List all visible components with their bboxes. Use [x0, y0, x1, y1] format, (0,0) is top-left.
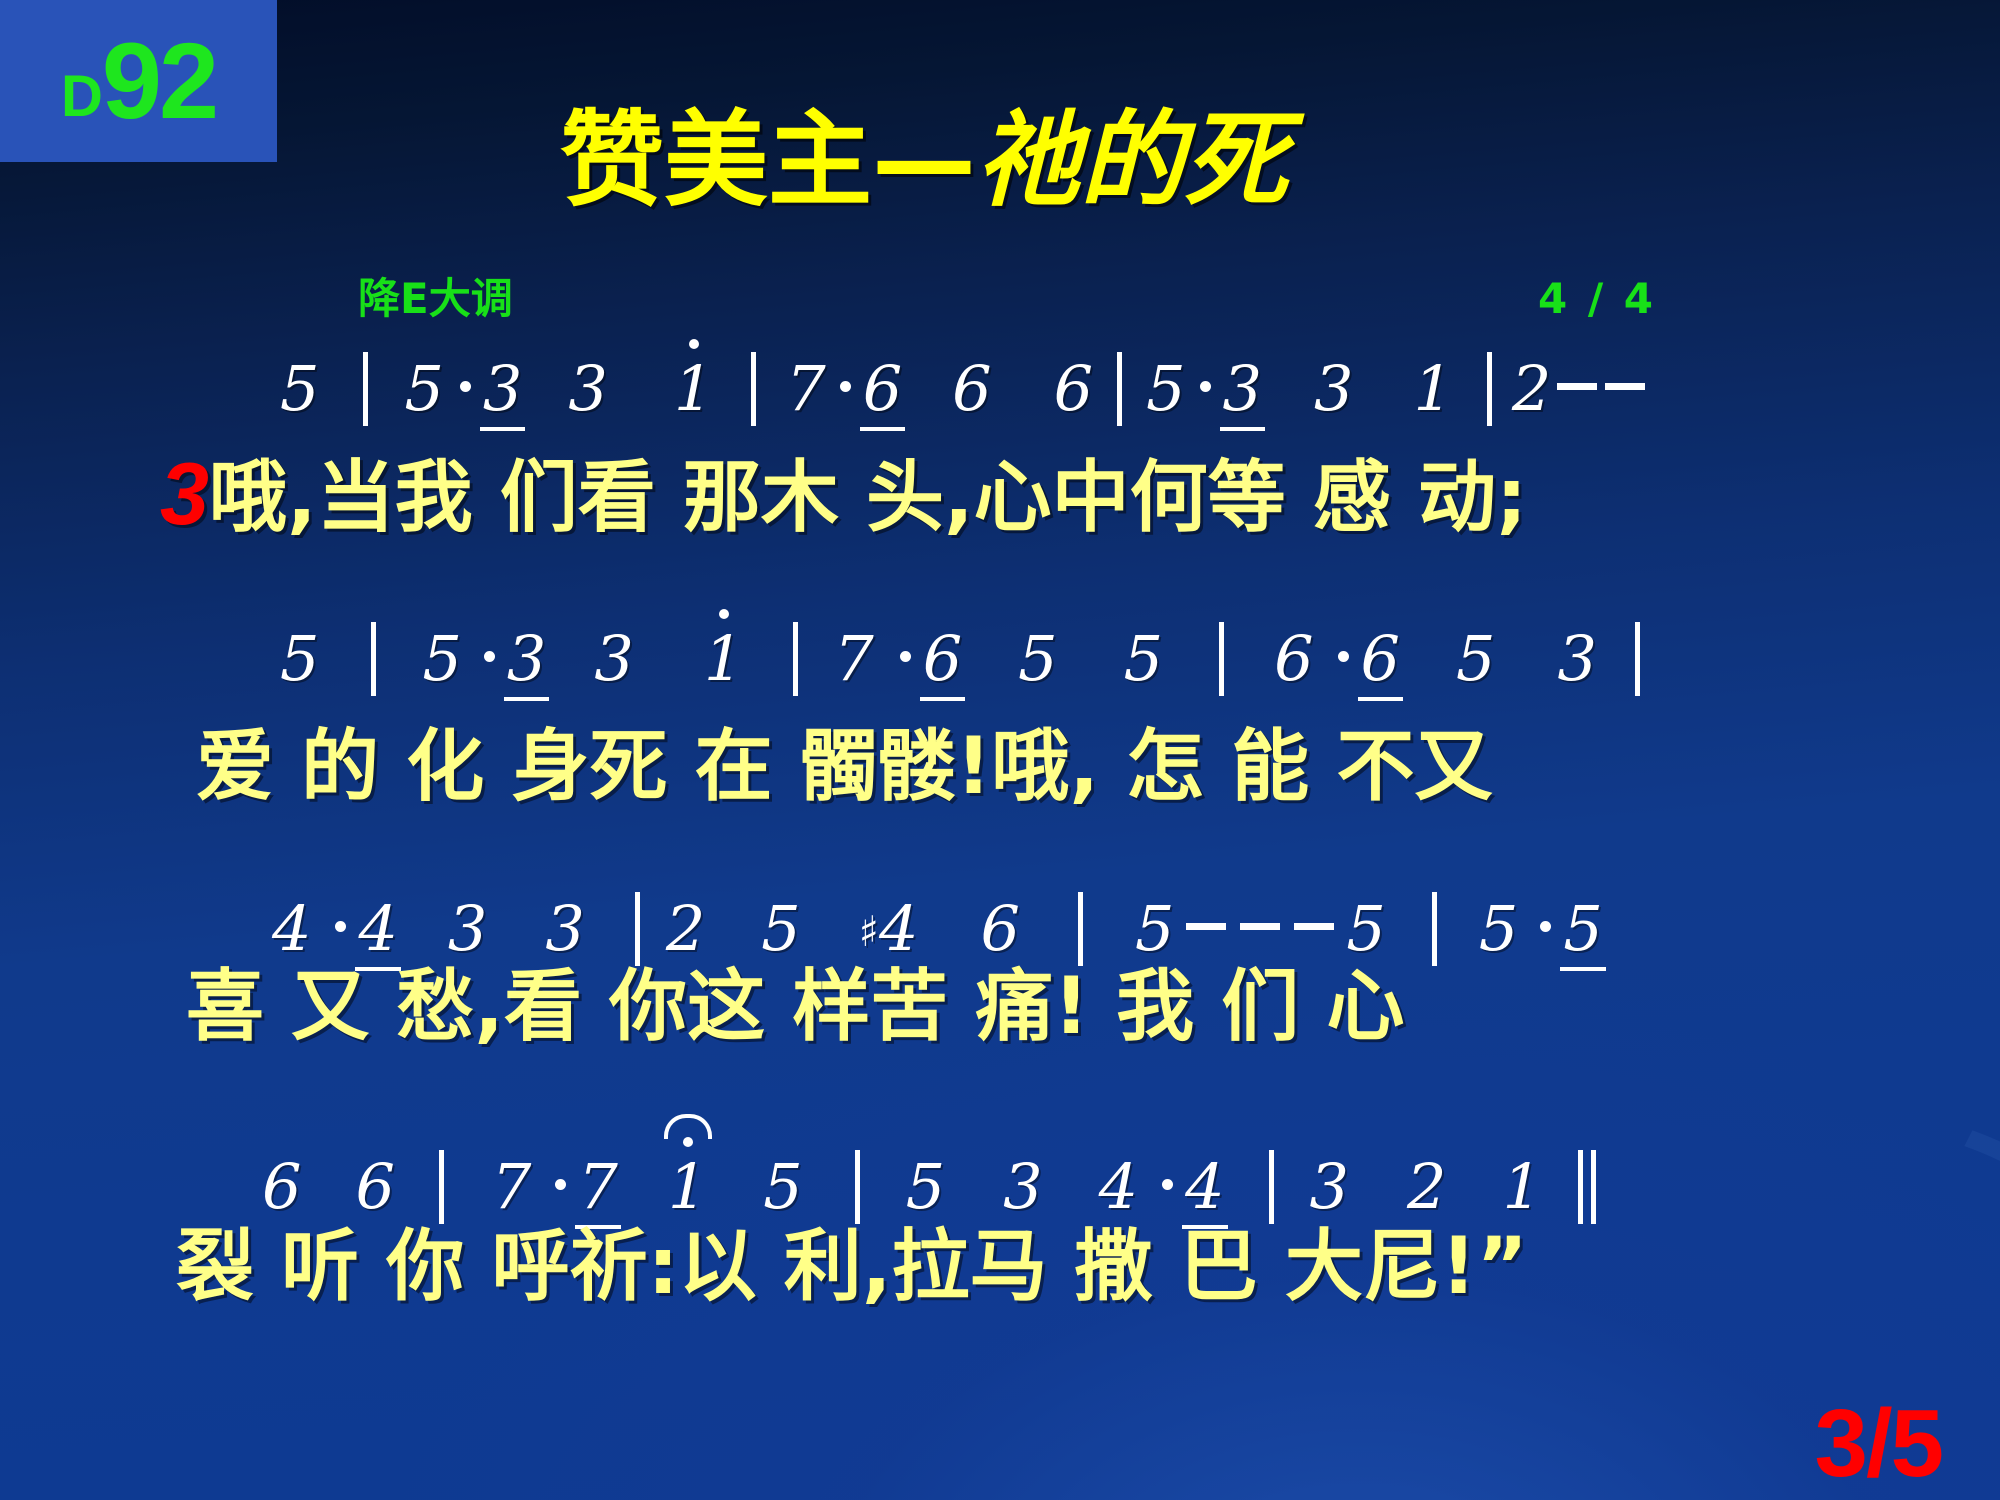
note: 2	[666, 898, 705, 960]
augmentation-dot-icon	[484, 651, 495, 662]
title-cursive: 祂的死	[976, 98, 1288, 221]
sustain-dash-icon	[1294, 923, 1334, 930]
note: 5	[1146, 358, 1185, 420]
note: 5	[404, 358, 443, 420]
note: 4	[358, 898, 397, 960]
note: 5	[1018, 628, 1057, 690]
note: 5	[1346, 898, 1385, 960]
sharp-accidental-icon: ♯	[859, 907, 879, 956]
barline-icon	[855, 1150, 860, 1224]
music-row-3: 443325♯465555	[272, 892, 1603, 966]
barline-icon	[635, 892, 640, 966]
time-signature: 4 / 4	[1538, 278, 1656, 320]
sustain-dash-icon	[1605, 383, 1645, 390]
note: 1	[704, 628, 743, 690]
barline-icon	[1078, 892, 1083, 966]
note: 5	[761, 898, 800, 960]
note: 4	[1099, 1156, 1138, 1218]
barline-icon	[371, 622, 376, 696]
decorative-swirl	[773, 754, 2000, 1500]
hymn-number: 92	[102, 38, 216, 124]
note: 3	[568, 358, 607, 420]
note: 5	[280, 358, 319, 420]
lyric-text: 裂 听 你 呼祈:以 利,拉马 撒 巴 大尼!”	[176, 1222, 1528, 1312]
sustain-dash-icon	[1240, 923, 1280, 930]
lyric-text: 喜 又 愁,看 你这 样苦 痛! 我 们 心	[186, 962, 1404, 1052]
final-barline-icon	[1578, 1150, 1596, 1224]
lyric-text: 爱 的 化 身死 在 髑髅!哦, 怎 能 不又	[196, 722, 1492, 812]
note: 6	[1274, 628, 1313, 690]
note: 3	[1003, 1156, 1042, 1218]
augmentation-dot-icon	[1200, 381, 1211, 392]
barline-icon	[751, 352, 756, 426]
note: 2	[1407, 1156, 1446, 1218]
note: 7	[578, 1156, 617, 1218]
note: 4	[272, 898, 311, 960]
barline-icon	[1487, 352, 1492, 426]
barline-icon	[439, 1150, 444, 1224]
note: 5	[763, 1156, 802, 1218]
note: 6	[863, 358, 902, 420]
sustain-dash-icon	[1186, 923, 1226, 930]
lyric-row-4: 裂 听 你 呼祈:以 利,拉马 撒 巴 大尼!”	[176, 1228, 1528, 1306]
note: 6	[923, 628, 962, 690]
augmentation-dot-icon	[335, 921, 346, 932]
note: 7	[786, 358, 825, 420]
barline-icon	[1635, 622, 1640, 696]
barline-icon	[793, 622, 798, 696]
note: 6	[952, 358, 991, 420]
note: 5	[1479, 898, 1518, 960]
hymn-number-badge: D92	[0, 0, 277, 162]
note: 3	[1310, 1156, 1349, 1218]
lyric-row-2: 爱 的 化 身死 在 髑髅!哦, 怎 能 不又	[196, 728, 1492, 806]
note: 1	[668, 1156, 707, 1218]
note: 6	[1054, 358, 1093, 420]
slide-canvas: D92 赞美主—祂的死 降E大调 4 / 4 55331766653312 3哦…	[0, 0, 2000, 1500]
hymn-book-prefix: D	[61, 74, 102, 120]
augmentation-dot-icon	[1338, 651, 1349, 662]
note: 1	[1413, 358, 1452, 420]
augmentation-dot-icon	[840, 381, 851, 392]
note: 6	[262, 1156, 301, 1218]
note: 5	[1124, 628, 1163, 690]
note: 5	[1135, 898, 1174, 960]
note: 5	[1456, 628, 1495, 690]
note: 1	[674, 358, 713, 420]
note: 4	[1185, 1156, 1224, 1218]
music-row-1: 55331766653312	[280, 352, 1645, 426]
key-signature: 降E大调	[358, 278, 513, 320]
note: 3	[545, 898, 584, 960]
note: 6	[1361, 628, 1400, 690]
barline-icon	[1117, 352, 1122, 426]
lyric-text: 哦,当我 们看 那木 头,心中何等 感 动;	[209, 453, 1527, 543]
augmentation-dot-icon	[555, 1179, 566, 1190]
title-main: 赞美主—	[560, 99, 976, 221]
music-row-2: 5533176556653	[280, 622, 1642, 696]
barline-icon	[1269, 1150, 1274, 1224]
note: 3	[483, 358, 522, 420]
note: 3	[1557, 628, 1596, 690]
lyric-row-3: 喜 又 愁,看 你这 样苦 痛! 我 们 心	[186, 968, 1404, 1046]
note: 2	[1512, 358, 1551, 420]
note: 3	[507, 628, 546, 690]
page-counter: 3/5	[1815, 1396, 1942, 1492]
augmentation-dot-icon	[1162, 1179, 1173, 1190]
note: 5	[422, 628, 461, 690]
note: 3	[1223, 358, 1262, 420]
note: 5	[1563, 898, 1602, 960]
note: 3	[448, 898, 487, 960]
note: 5	[280, 628, 319, 690]
augmentation-dot-icon	[460, 381, 471, 392]
augmentation-dot-icon	[900, 651, 911, 662]
note: 7	[492, 1156, 531, 1218]
barline-icon	[1219, 622, 1224, 696]
barline-icon	[1432, 892, 1437, 966]
music-row-4: 6677155344321	[262, 1150, 1598, 1224]
note: 5	[906, 1156, 945, 1218]
page-title: 赞美主—祂的死	[560, 108, 1288, 212]
augmentation-dot-icon	[1540, 921, 1551, 932]
sustain-dash-icon	[1557, 383, 1597, 390]
barline-icon	[363, 352, 368, 426]
note: 1	[1502, 1156, 1541, 1218]
note: 7	[834, 628, 873, 690]
note: 3	[594, 628, 633, 690]
note: 4	[879, 898, 918, 960]
note: 3	[1314, 358, 1353, 420]
note: 6	[981, 898, 1020, 960]
lyric-row-1: 3哦,当我 们看 那木 头,心中何等 感 动;	[160, 450, 1527, 538]
note: 6	[355, 1156, 394, 1218]
stanza-number: 3	[160, 444, 209, 543]
